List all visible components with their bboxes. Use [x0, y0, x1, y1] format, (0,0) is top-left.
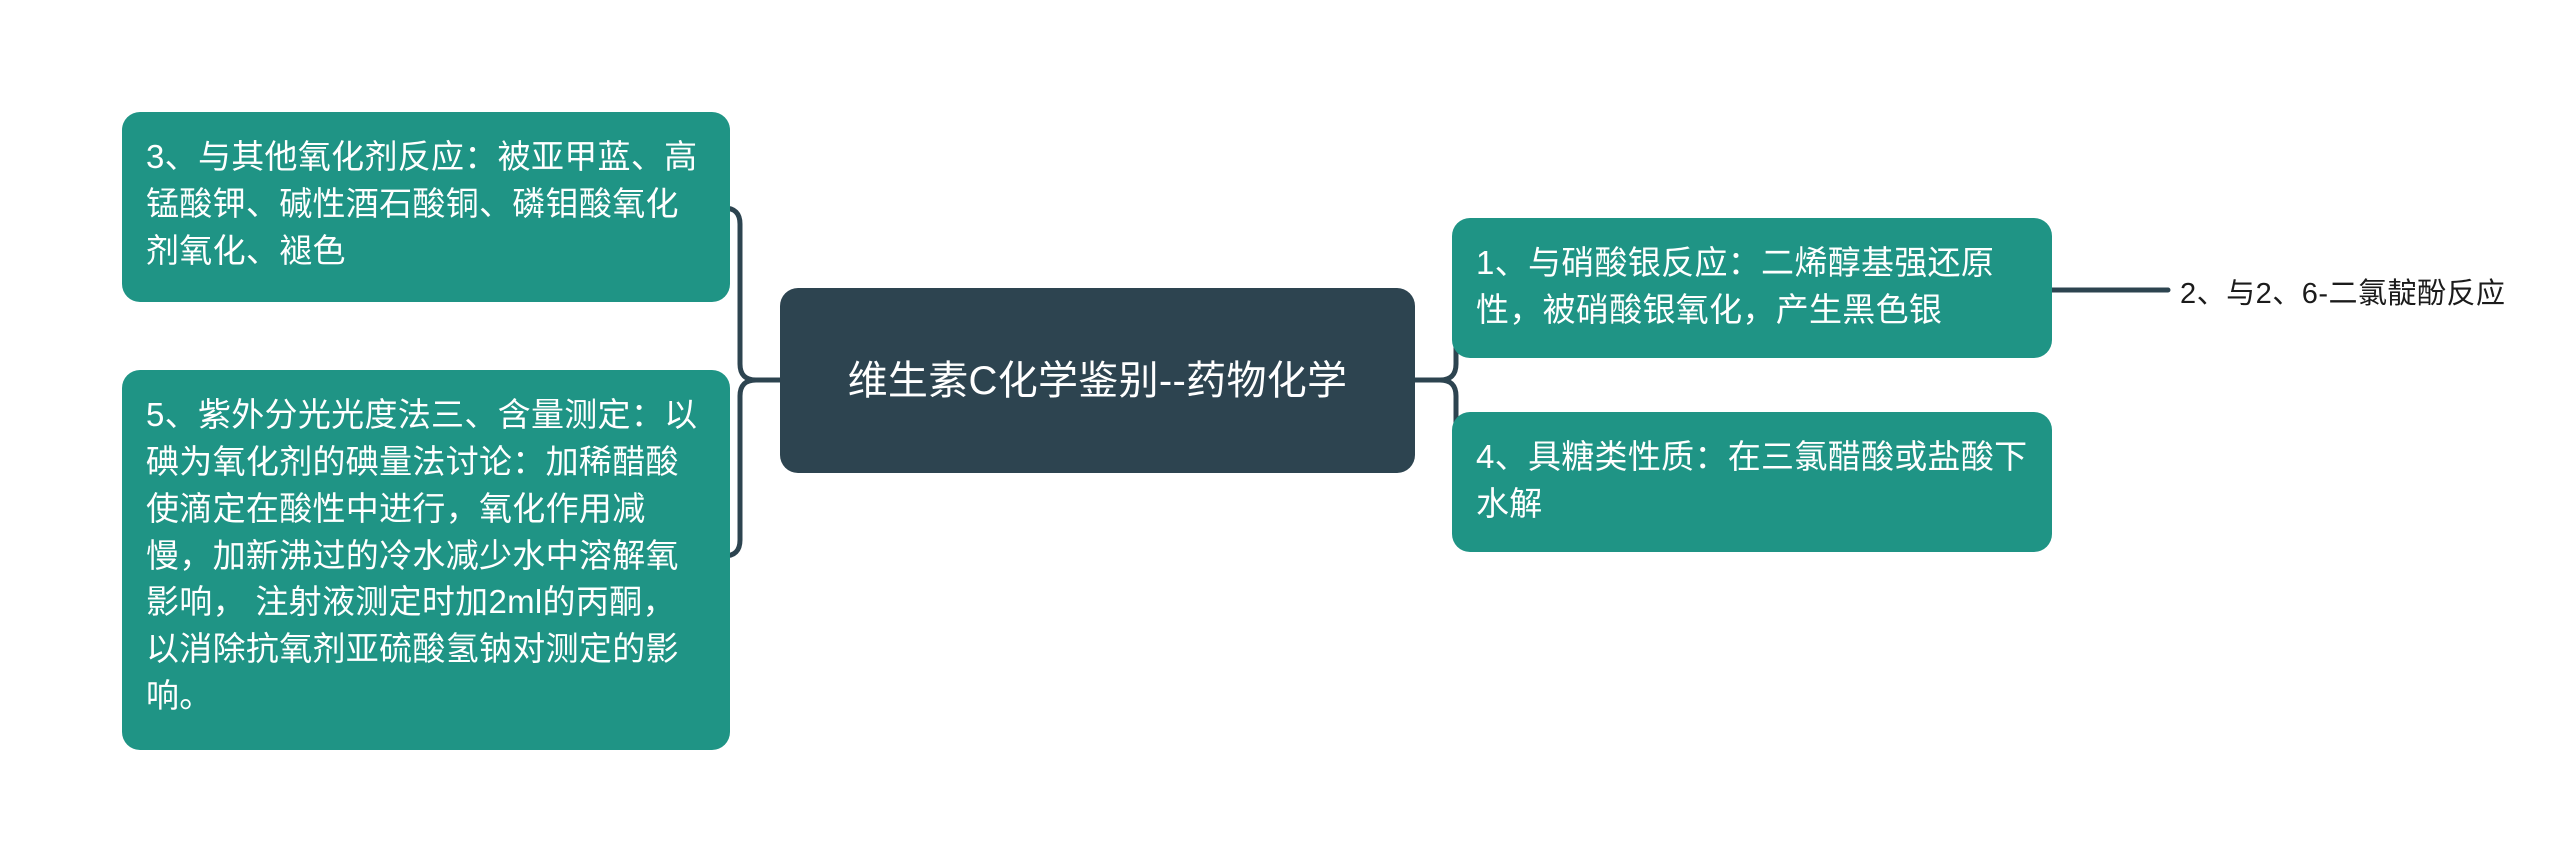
mindmap-node-leaf-2[interactable]: 2、与2、6-二氯靛酚反应 [2180, 270, 2506, 312]
mindmap-root-label: 维生素C化学鉴别--药物化学 [848, 352, 1348, 410]
mindmap-canvas: 3、与其他氧化剂反应：被亚甲蓝、高锰酸钾、碱性酒石酸铜、磷钼酸氧化剂氧化、褪色 … [0, 0, 2560, 859]
mindmap-node-branch-5-label: 5、紫外分光光度法三、含量测定：以碘为氧化剂的碘量法讨论：加稀醋酸使滴定在酸性中… [146, 396, 697, 714]
mindmap-node-branch-1[interactable]: 1、与硝酸银反应：二烯醇基强还原性，被硝酸银氧化，产生黑色银 [1452, 218, 2052, 358]
mindmap-node-branch-3[interactable]: 3、与其他氧化剂反应：被亚甲蓝、高锰酸钾、碱性酒石酸铜、磷钼酸氧化剂氧化、褪色 [122, 112, 730, 302]
mindmap-node-branch-1-label: 1、与硝酸银反应：二烯醇基强还原性，被硝酸银氧化，产生黑色银 [1476, 244, 1994, 328]
mindmap-root-node[interactable]: 维生素C化学鉴别--药物化学 [780, 288, 1415, 473]
mindmap-node-branch-3-label: 3、与其他氧化剂反应：被亚甲蓝、高锰酸钾、碱性酒石酸铜、磷钼酸氧化剂氧化、褪色 [146, 138, 697, 269]
mindmap-node-branch-4-label: 4、具糖类性质：在三氯醋酸或盐酸下水解 [1476, 438, 2027, 522]
mindmap-node-branch-5[interactable]: 5、紫外分光光度法三、含量测定：以碘为氧化剂的碘量法讨论：加稀醋酸使滴定在酸性中… [122, 370, 730, 750]
mindmap-node-branch-4[interactable]: 4、具糖类性质：在三氯醋酸或盐酸下水解 [1452, 412, 2052, 552]
mindmap-node-leaf-2-label: 2、与2、6-二氯靛酚反应 [2180, 278, 2506, 310]
